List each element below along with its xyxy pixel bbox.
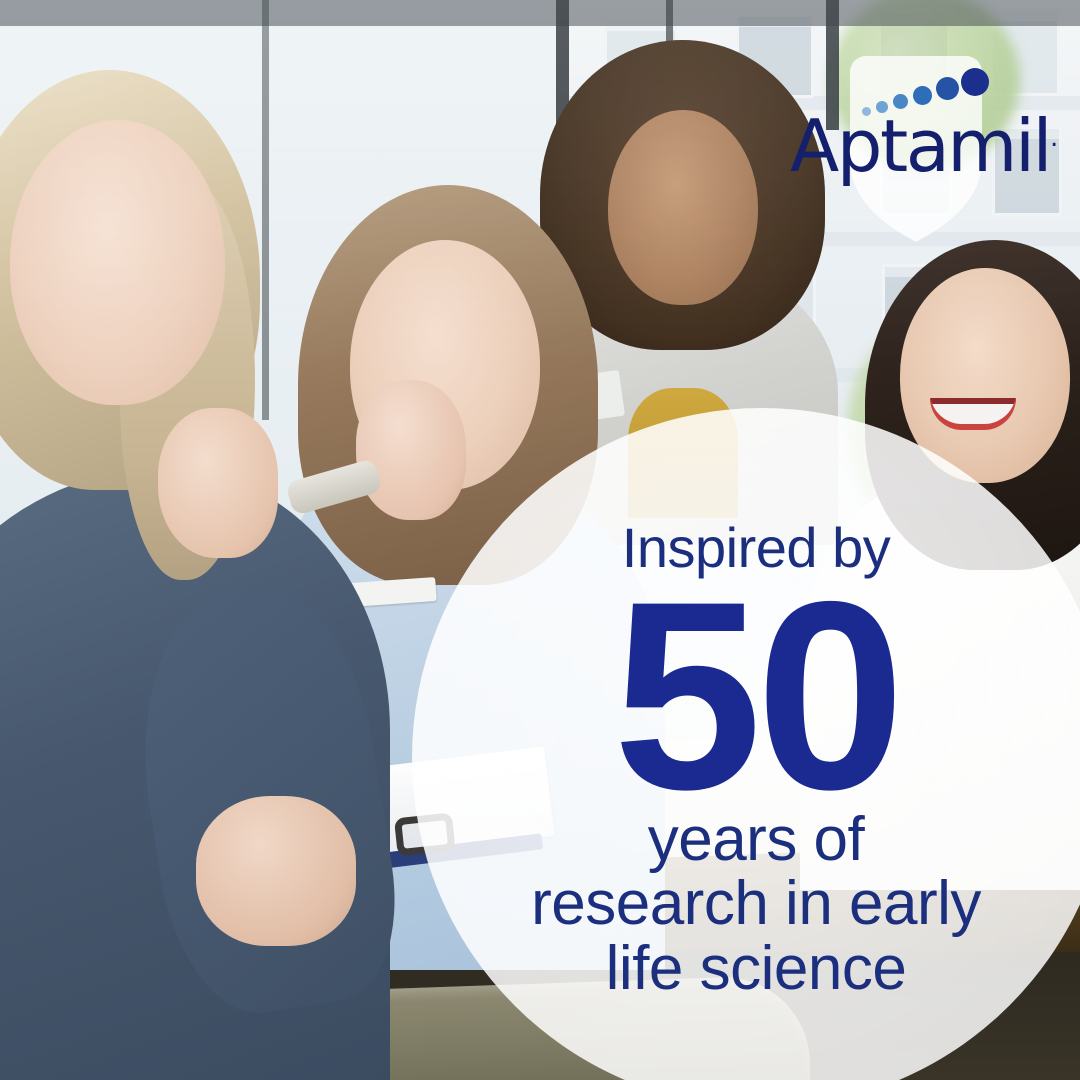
logo-dot-5: [936, 77, 959, 100]
registered-mark: .: [1050, 123, 1058, 153]
headline-line-2: research in early: [438, 872, 1074, 936]
headline-line-1: years of: [438, 808, 1074, 872]
aptamil-wordmark-text: Aptamil: [790, 104, 1050, 188]
headline-number: 50: [438, 586, 1074, 806]
headline-line-3: life science: [438, 937, 1074, 1001]
aptamil-logo: Aptamil.: [838, 52, 1038, 252]
aptamil-wordmark: Aptamil.: [790, 110, 1058, 182]
logo-dot-6: [961, 68, 989, 96]
promo-image: Aptamil. Inspired by 50 years of researc…: [0, 0, 1080, 1080]
headline-block: Inspired by 50 years of research in earl…: [438, 520, 1074, 1040]
logo-dot-4: [913, 86, 932, 105]
headline-lines: years of research in early life science: [438, 808, 1074, 1001]
